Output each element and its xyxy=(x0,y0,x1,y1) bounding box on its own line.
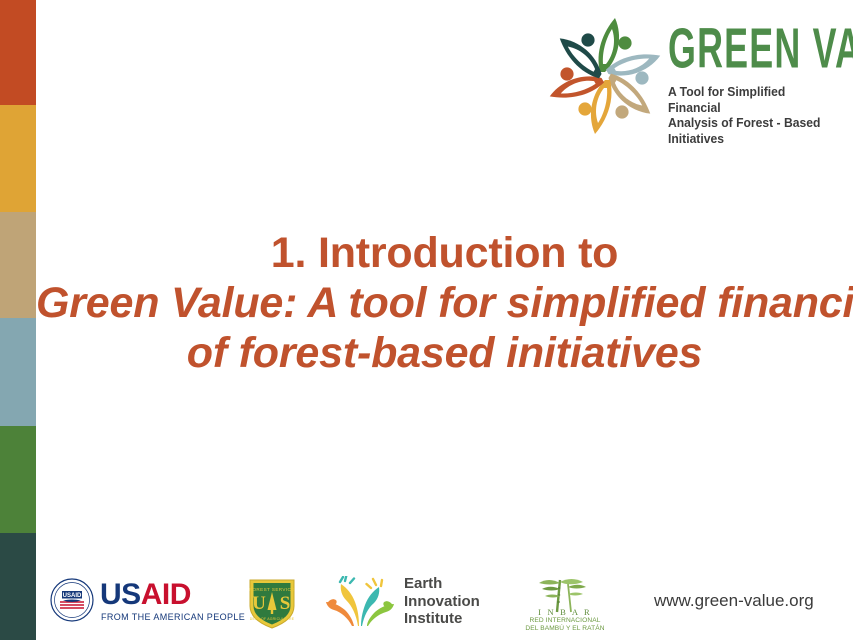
earth-innovation-institute-logo: Earth Innovation Institute xyxy=(322,574,502,632)
dot-amber xyxy=(578,102,591,115)
svg-text:S: S xyxy=(280,593,291,614)
inbar-acronym: I N B A R xyxy=(527,607,603,617)
svg-text:USAID: USAID xyxy=(63,593,82,599)
svg-text:U: U xyxy=(252,593,266,614)
usaid-word-aid: AID xyxy=(141,578,191,611)
usaid-word-us: US xyxy=(100,578,141,611)
usaid-seal-icon: USAID xyxy=(50,578,94,622)
sidebar-band-amber xyxy=(0,105,36,212)
slide-canvas: GREEN VALUE A Tool for Simplified Financ… xyxy=(0,0,853,640)
green-value-logo: GREEN VALUE A Tool for Simplified Financ… xyxy=(546,14,846,146)
sidebar-band-dark-teal xyxy=(0,533,36,640)
svg-text:DEPT OF AGRICULTURE: DEPT OF AGRICULTURE xyxy=(250,617,295,621)
dot-tan xyxy=(615,105,628,118)
footer-logo-strip: USAID USAID FROM THE AMERICAN PEOPLE FOR… xyxy=(36,568,853,640)
dot-green xyxy=(618,36,631,49)
title-line-3: of forest-based initiatives xyxy=(36,328,853,378)
us-forest-service-logo: FOREST SERVICE U S DEPT OF AGRICULTURE xyxy=(244,572,300,632)
eii-wordmark: Earth Innovation Institute xyxy=(404,575,480,628)
website-url[interactable]: www.green-value.org xyxy=(654,591,814,611)
slide-title: 1. Introduction to Green Value: A tool f… xyxy=(36,228,853,378)
sidebar-band-steel-blue xyxy=(0,318,36,426)
dot-dark-teal xyxy=(581,33,594,46)
left-color-bar xyxy=(0,0,36,640)
usaid-tagline: FROM THE AMERICAN PEOPLE xyxy=(101,612,245,623)
green-value-flower-mark xyxy=(546,14,664,140)
green-value-tagline: A Tool for Simplified Financial Analysis… xyxy=(668,84,832,146)
eii-tree-mark-icon xyxy=(322,576,398,628)
sidebar-band-green xyxy=(0,426,36,533)
green-value-logo-text: GREEN VALUE A Tool for Simplified Financ… xyxy=(668,20,846,146)
dot-steel-blue xyxy=(635,71,648,84)
usaid-logo: USAID USAID FROM THE AMERICAN PEOPLE xyxy=(50,576,220,628)
inbar-subtitle: RED INTERNACIONAL DEL BAMBÚ Y EL RATÁN xyxy=(521,617,609,632)
usaid-wordmark: USAID xyxy=(100,580,191,610)
dot-orange-red xyxy=(560,67,573,80)
svg-text:FOREST SERVICE: FOREST SERVICE xyxy=(249,587,295,592)
green-value-wordmark: GREEN VALUE xyxy=(668,20,807,76)
title-line-1: 1. Introduction to xyxy=(36,228,853,278)
sidebar-band-tan xyxy=(0,212,36,318)
title-line-2: Green Value: A tool for simplified finan… xyxy=(36,278,853,328)
inbar-logo: I N B A R RED INTERNACIONAL DEL BAMBÚ Y … xyxy=(521,574,609,632)
forest-service-shield-icon: FOREST SERVICE U S DEPT OF AGRICULTURE xyxy=(244,572,300,632)
sidebar-band-orange-red xyxy=(0,0,36,105)
